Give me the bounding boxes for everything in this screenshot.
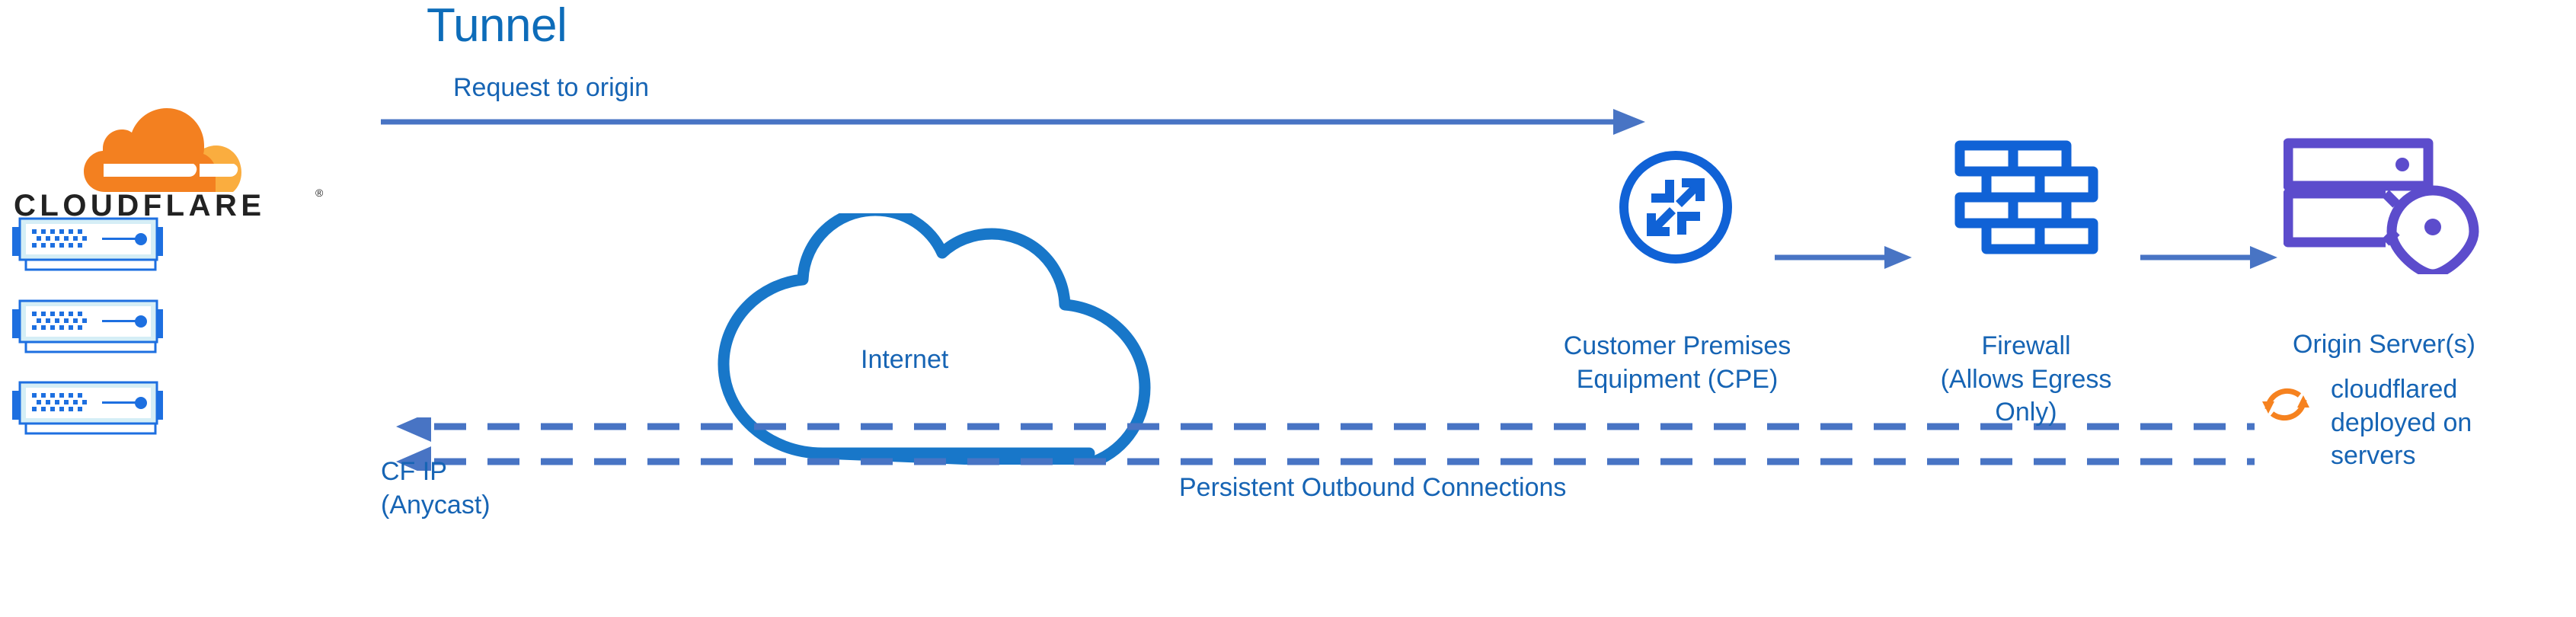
arrow-firewall-to-origin — [2140, 246, 2277, 269]
firewall-label: Firewall (Allows Egress Only) — [1908, 330, 2144, 430]
four-way-arrows-circle-icon — [1615, 146, 1737, 268]
cloudflared-line-3: servers — [2331, 440, 2472, 473]
firewall-label-line-1: Firewall — [1908, 330, 2144, 363]
cpe-label: Customer Premises Equipment (CPE) — [1548, 330, 1807, 396]
cloudflared-line-2: deployed on — [2331, 407, 2472, 440]
cloudflared-line-1: cloudflared — [2331, 373, 2472, 407]
request-to-origin-arrow — [381, 107, 1645, 137]
edge-server-3 — [8, 379, 169, 438]
internet-label: Internet — [861, 345, 948, 375]
cpe-label-line-1: Customer Premises — [1548, 330, 1807, 363]
cf-ip-anycast-label: CF IP (Anycast) — [381, 456, 491, 522]
cpe-label-line-2: Equipment (CPE) — [1548, 363, 1807, 397]
cf-ip-line-1: CF IP — [381, 456, 491, 489]
edge-server-2 — [8, 297, 169, 356]
request-to-origin-label: Request to origin — [453, 73, 649, 103]
page-title: Tunnel — [427, 0, 567, 52]
tunnel-architecture-diagram: Tunnel CLOUDFLARE ® — [0, 0, 2576, 617]
server-rack-location-pin-icon — [2284, 137, 2483, 274]
persistent-outbound-connections-label: Persistent Outbound Connections — [1179, 473, 1566, 503]
sync-arrows-icon — [2258, 377, 2313, 432]
cf-ip-line-2: (Anycast) — [381, 489, 491, 523]
cloudflared-note-label: cloudflared deployed on servers — [2331, 373, 2472, 473]
cloudflare-cloud-logo: CLOUDFLARE ® — [14, 107, 326, 219]
arrow-cpe-to-firewall — [1775, 246, 1912, 269]
origin-server-label: Origin Server(s) — [2251, 330, 2517, 360]
firewall-label-line-2: (Allows Egress Only) — [1908, 363, 2144, 430]
svg-text:®: ® — [315, 187, 324, 199]
brick-wall-icon — [1950, 139, 2102, 270]
edge-server-1 — [8, 215, 169, 274]
